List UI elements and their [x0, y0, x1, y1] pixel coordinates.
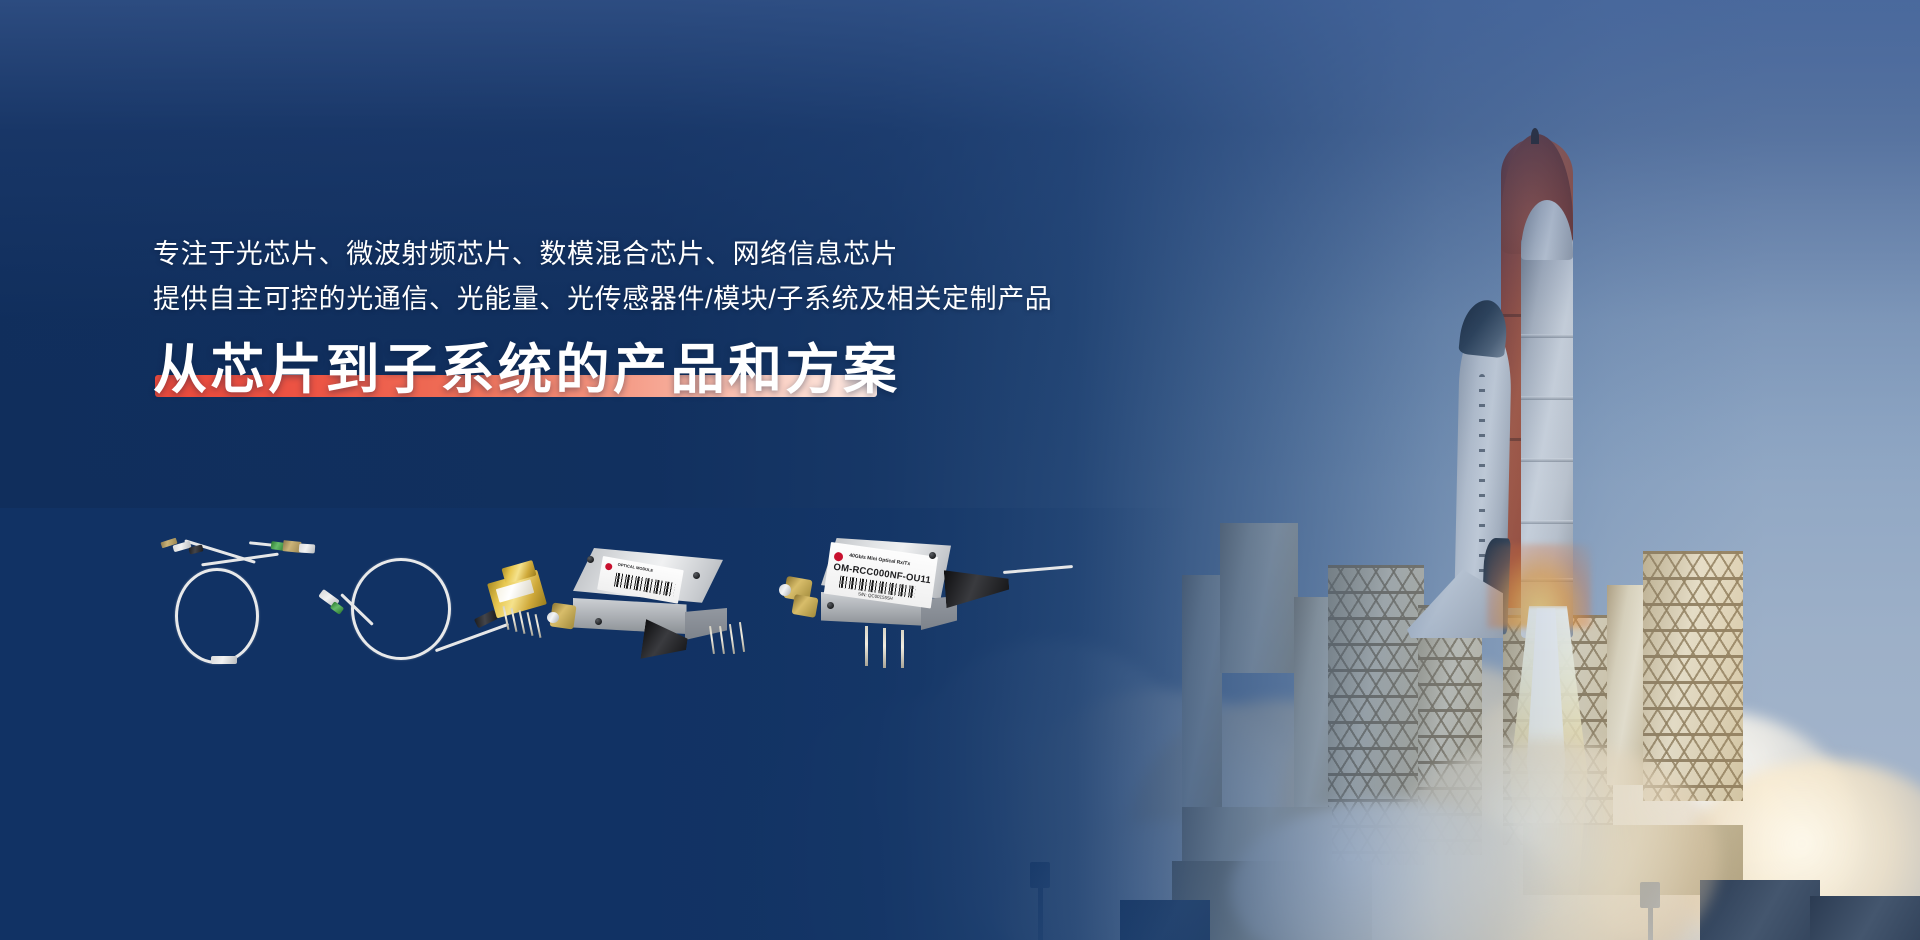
page-title: 从芯片到子系统的产品和方案	[153, 338, 901, 402]
subtitle-line-2: 提供自主可控的光通信、光能量、光传感器件/模块/子系统及相关定制产品	[153, 277, 1293, 322]
product-fiber-pigtail-assembly	[153, 528, 323, 668]
headline-wrapper: 从芯片到子系统的产品和方案	[153, 338, 901, 402]
product-rf-metal-box-module: OPTICAL MODULE	[551, 542, 781, 668]
subtitle-line-1: 专注于光芯片、微波射频芯片、数模混合芯片、网络信息芯片	[153, 232, 1293, 277]
hero-text-block: 专注于光芯片、微波射频芯片、数模混合芯片、网络信息芯片 提供自主可控的光通信、光…	[153, 232, 1293, 402]
product-coaxial-optical-transceiver: 40Gb/s Mini Optical Rx/Tx OM-RCC000NF-OU…	[779, 534, 1079, 674]
product-image-strip: OPTICAL MODULE 40Gb/s Mini Optica	[153, 528, 1093, 678]
product-butterfly-laser-module	[313, 536, 543, 668]
hero-banner: 专注于光芯片、微波射频芯片、数模混合芯片、网络信息芯片 提供自主可控的光通信、光…	[0, 0, 1920, 940]
